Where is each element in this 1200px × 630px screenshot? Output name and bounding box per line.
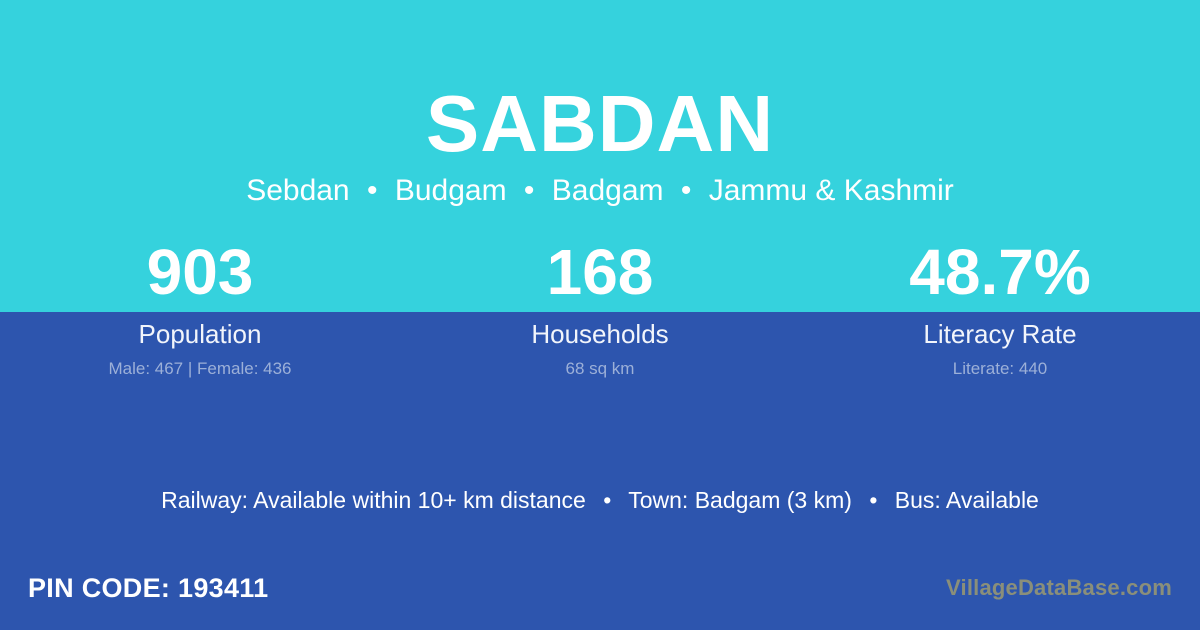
breadcrumb-separator-icon: • <box>515 172 544 210</box>
stat-sublabel: 68 sq km <box>400 358 800 380</box>
infra-item-town: Town: Badgam (3 km) <box>628 487 852 513</box>
stat-sublabel: Literate: 440 <box>800 358 1200 380</box>
breadcrumb-item-district: Badgam <box>552 174 664 207</box>
footer: PIN CODE: 193411 VillageDataBase.com <box>0 558 1200 630</box>
infra-separator-icon: • <box>858 484 888 516</box>
breadcrumb: Sebdan • Budgam • Badgam • Jammu & Kashm… <box>0 172 1200 210</box>
site-watermark: VillageDataBase.com <box>946 574 1172 602</box>
stats-row: 903 Population Male: 467 | Female: 436 1… <box>0 240 1200 380</box>
stat-label: Literacy Rate <box>800 319 1200 349</box>
stat-households: 168 Households 68 sq km <box>400 240 800 380</box>
pin-code: PIN CODE: 193411 <box>28 572 268 604</box>
stat-value: 168 <box>400 240 800 312</box>
stat-label: Population <box>0 319 400 349</box>
stat-sublabel: Male: 467 | Female: 436 <box>0 358 400 380</box>
breadcrumb-item-village: Sebdan <box>246 174 349 207</box>
page-title: SABDAN <box>0 78 1200 170</box>
stat-label: Households <box>400 319 800 349</box>
stat-value: 48.7% <box>800 240 1200 312</box>
infrastructure-row: Railway: Available within 10+ km distanc… <box>0 484 1200 516</box>
breadcrumb-item-state: Jammu & Kashmir <box>709 174 954 207</box>
village-info-card: SABDAN Sebdan • Budgam • Badgam • Jammu … <box>0 0 1200 630</box>
infra-item-railway: Railway: Available within 10+ km distanc… <box>161 487 586 513</box>
breadcrumb-separator-icon: • <box>358 172 387 210</box>
infra-item-bus: Bus: Available <box>895 487 1039 513</box>
infra-separator-icon: • <box>592 484 622 516</box>
header: SABDAN Sebdan • Budgam • Badgam • Jammu … <box>0 0 1200 210</box>
breadcrumb-separator-icon: • <box>672 172 701 210</box>
stat-literacy-rate: 48.7% Literacy Rate Literate: 440 <box>800 240 1200 380</box>
stat-value: 903 <box>0 240 400 312</box>
stat-population: 903 Population Male: 467 | Female: 436 <box>0 240 400 380</box>
breadcrumb-item-block: Budgam <box>395 174 507 207</box>
